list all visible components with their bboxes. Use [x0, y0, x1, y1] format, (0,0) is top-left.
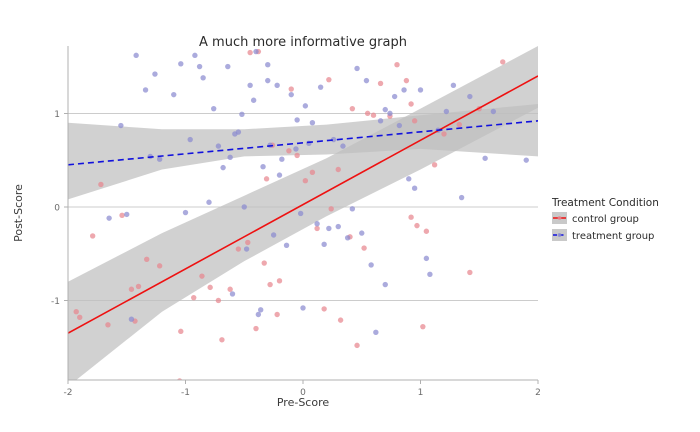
data-point-treatment: [265, 78, 270, 83]
data-point-treatment: [133, 53, 138, 58]
data-point-treatment: [227, 155, 232, 160]
data-point-control: [227, 287, 232, 292]
data-point-control: [178, 329, 183, 334]
data-point-treatment: [368, 262, 373, 267]
data-point-treatment: [188, 137, 193, 142]
y-axis-title: Post-Score: [12, 184, 25, 242]
data-point-treatment: [387, 111, 392, 116]
data-point-control: [245, 240, 250, 245]
data-point-treatment: [491, 109, 496, 114]
x-tick-label: 2: [535, 388, 541, 398]
data-point-control: [119, 213, 124, 218]
data-point-treatment: [244, 246, 249, 251]
data-point-control: [457, 122, 462, 127]
data-point-control: [432, 162, 437, 167]
data-point-treatment: [300, 305, 305, 310]
data-point-treatment: [256, 312, 261, 317]
data-point-control: [129, 287, 134, 292]
legend-key-point: [558, 216, 562, 220]
data-point-control: [277, 278, 282, 283]
data-point-treatment: [459, 195, 464, 200]
x-tick-label: 1: [418, 388, 424, 398]
data-point-control: [157, 263, 162, 268]
data-point-treatment: [310, 120, 315, 125]
data-point-treatment: [197, 64, 202, 69]
data-point-treatment: [345, 235, 350, 240]
data-point-treatment: [424, 256, 429, 261]
data-point-treatment: [427, 272, 432, 277]
data-point-treatment: [206, 200, 211, 205]
data-point-control: [247, 50, 252, 55]
data-point-control: [361, 245, 366, 250]
data-point-treatment: [451, 83, 456, 88]
data-point-control: [420, 324, 425, 329]
data-point-control: [408, 101, 413, 106]
data-point-control: [262, 260, 267, 265]
data-point-treatment: [124, 212, 129, 217]
data-point-treatment: [106, 215, 111, 220]
data-point-treatment: [178, 61, 183, 66]
data-point-treatment: [397, 123, 402, 128]
data-point-treatment: [265, 62, 270, 67]
data-point-control: [414, 223, 419, 228]
data-point-control: [216, 298, 221, 303]
data-point-control: [303, 178, 308, 183]
data-point-treatment: [326, 226, 331, 231]
x-axis-title: Pre-Score: [277, 396, 329, 409]
data-point-treatment: [482, 156, 487, 161]
data-point-control: [350, 106, 355, 111]
data-point-treatment: [225, 64, 230, 69]
data-point-control: [105, 322, 110, 327]
data-point-treatment: [524, 157, 529, 162]
data-point-control: [336, 167, 341, 172]
data-point-control: [424, 229, 429, 234]
data-point-treatment: [303, 103, 308, 108]
data-point-control: [289, 86, 294, 91]
data-point-treatment: [129, 316, 134, 321]
legend-entry-label: treatment group: [572, 231, 654, 242]
data-point-control: [191, 295, 196, 300]
data-point-treatment: [247, 83, 252, 88]
data-point-treatment: [260, 164, 265, 169]
data-point-treatment: [321, 242, 326, 247]
data-point-control: [294, 153, 299, 158]
data-point-treatment: [277, 172, 282, 177]
data-point-control: [394, 62, 399, 67]
legend-entry-control[interactable]: control group: [552, 212, 639, 225]
data-point-treatment: [230, 291, 235, 296]
data-point-treatment: [242, 204, 247, 209]
data-point-treatment: [143, 87, 148, 92]
data-point-treatment: [314, 221, 319, 226]
data-point-treatment: [220, 165, 225, 170]
data-point-treatment: [157, 157, 162, 162]
data-point-control: [199, 273, 204, 278]
data-point-treatment: [444, 109, 449, 114]
data-point-treatment: [364, 78, 369, 83]
data-point-control: [500, 59, 505, 64]
data-point-control: [267, 282, 272, 287]
data-point-treatment: [354, 66, 359, 71]
data-point-control: [408, 215, 413, 220]
scatter-plot-svg: A much more informative graph -2-1012 10…: [0, 0, 700, 432]
data-point-treatment: [183, 210, 188, 215]
data-point-treatment: [336, 224, 341, 229]
data-point-treatment: [171, 92, 176, 97]
data-point-control: [371, 113, 376, 118]
data-point-treatment: [279, 157, 284, 162]
data-point-treatment: [258, 307, 263, 312]
data-point-treatment: [211, 106, 216, 111]
data-point-control: [467, 270, 472, 275]
data-point-control: [98, 182, 103, 187]
chart-title: A much more informative graph: [199, 35, 407, 50]
data-point-control: [310, 170, 315, 175]
data-point-treatment: [200, 75, 205, 80]
data-point-treatment: [236, 129, 241, 134]
data-point-treatment: [294, 117, 299, 122]
legend-key-point: [558, 233, 562, 237]
data-point-treatment: [216, 143, 221, 148]
data-point-control: [77, 315, 82, 320]
y-tick-label: 1: [54, 110, 60, 120]
data-point-control: [136, 284, 141, 289]
y-tick-label: 0: [54, 203, 60, 213]
data-point-treatment: [251, 98, 256, 103]
data-point-control: [144, 257, 149, 262]
data-point-control: [365, 111, 370, 116]
data-point-control: [326, 77, 331, 82]
data-point-control: [354, 343, 359, 348]
data-point-treatment: [289, 92, 294, 97]
data-point-control: [378, 81, 383, 86]
data-point-control: [74, 309, 79, 314]
data-point-treatment: [392, 94, 397, 99]
data-point-treatment: [467, 94, 472, 99]
x-tick-label: -1: [181, 388, 190, 398]
x-tick-label: -2: [64, 388, 73, 398]
chart-figure: A much more informative graph -2-1012 10…: [0, 0, 700, 432]
data-point-control: [264, 176, 269, 181]
data-point-treatment: [350, 206, 355, 211]
data-point-treatment: [293, 146, 298, 151]
data-point-treatment: [359, 230, 364, 235]
data-point-control: [90, 233, 95, 238]
data-point-treatment: [378, 118, 383, 123]
data-point-treatment: [284, 243, 289, 248]
data-point-control: [412, 118, 417, 123]
data-point-treatment: [298, 211, 303, 216]
legend-entry-label: control group: [572, 214, 639, 225]
data-point-treatment: [253, 49, 258, 54]
data-point-treatment: [340, 143, 345, 148]
data-point-control: [274, 312, 279, 317]
data-point-control: [219, 337, 224, 342]
data-point-control: [441, 131, 446, 136]
data-point-treatment: [274, 83, 279, 88]
y-tick-label: -1: [51, 297, 60, 307]
data-point-treatment: [401, 87, 406, 92]
data-point-treatment: [192, 53, 197, 58]
data-point-treatment: [383, 107, 388, 112]
data-point-treatment: [412, 186, 417, 191]
data-point-treatment: [406, 176, 411, 181]
data-point-control: [253, 326, 258, 331]
data-point-control: [329, 206, 334, 211]
data-point-treatment: [373, 330, 378, 335]
data-point-treatment: [118, 123, 123, 128]
data-point-control: [404, 78, 409, 83]
legend-title: Treatment Condition: [551, 197, 659, 209]
data-point-control: [338, 317, 343, 322]
data-point-treatment: [239, 112, 244, 117]
data-point-control: [207, 285, 212, 290]
data-point-treatment: [271, 232, 276, 237]
data-point-control: [236, 246, 241, 251]
data-point-control: [321, 306, 326, 311]
data-point-control: [314, 226, 319, 231]
data-point-treatment: [418, 87, 423, 92]
data-point-treatment: [318, 84, 323, 89]
data-point-control: [286, 148, 291, 153]
data-point-treatment: [152, 71, 157, 76]
data-point-treatment: [383, 282, 388, 287]
